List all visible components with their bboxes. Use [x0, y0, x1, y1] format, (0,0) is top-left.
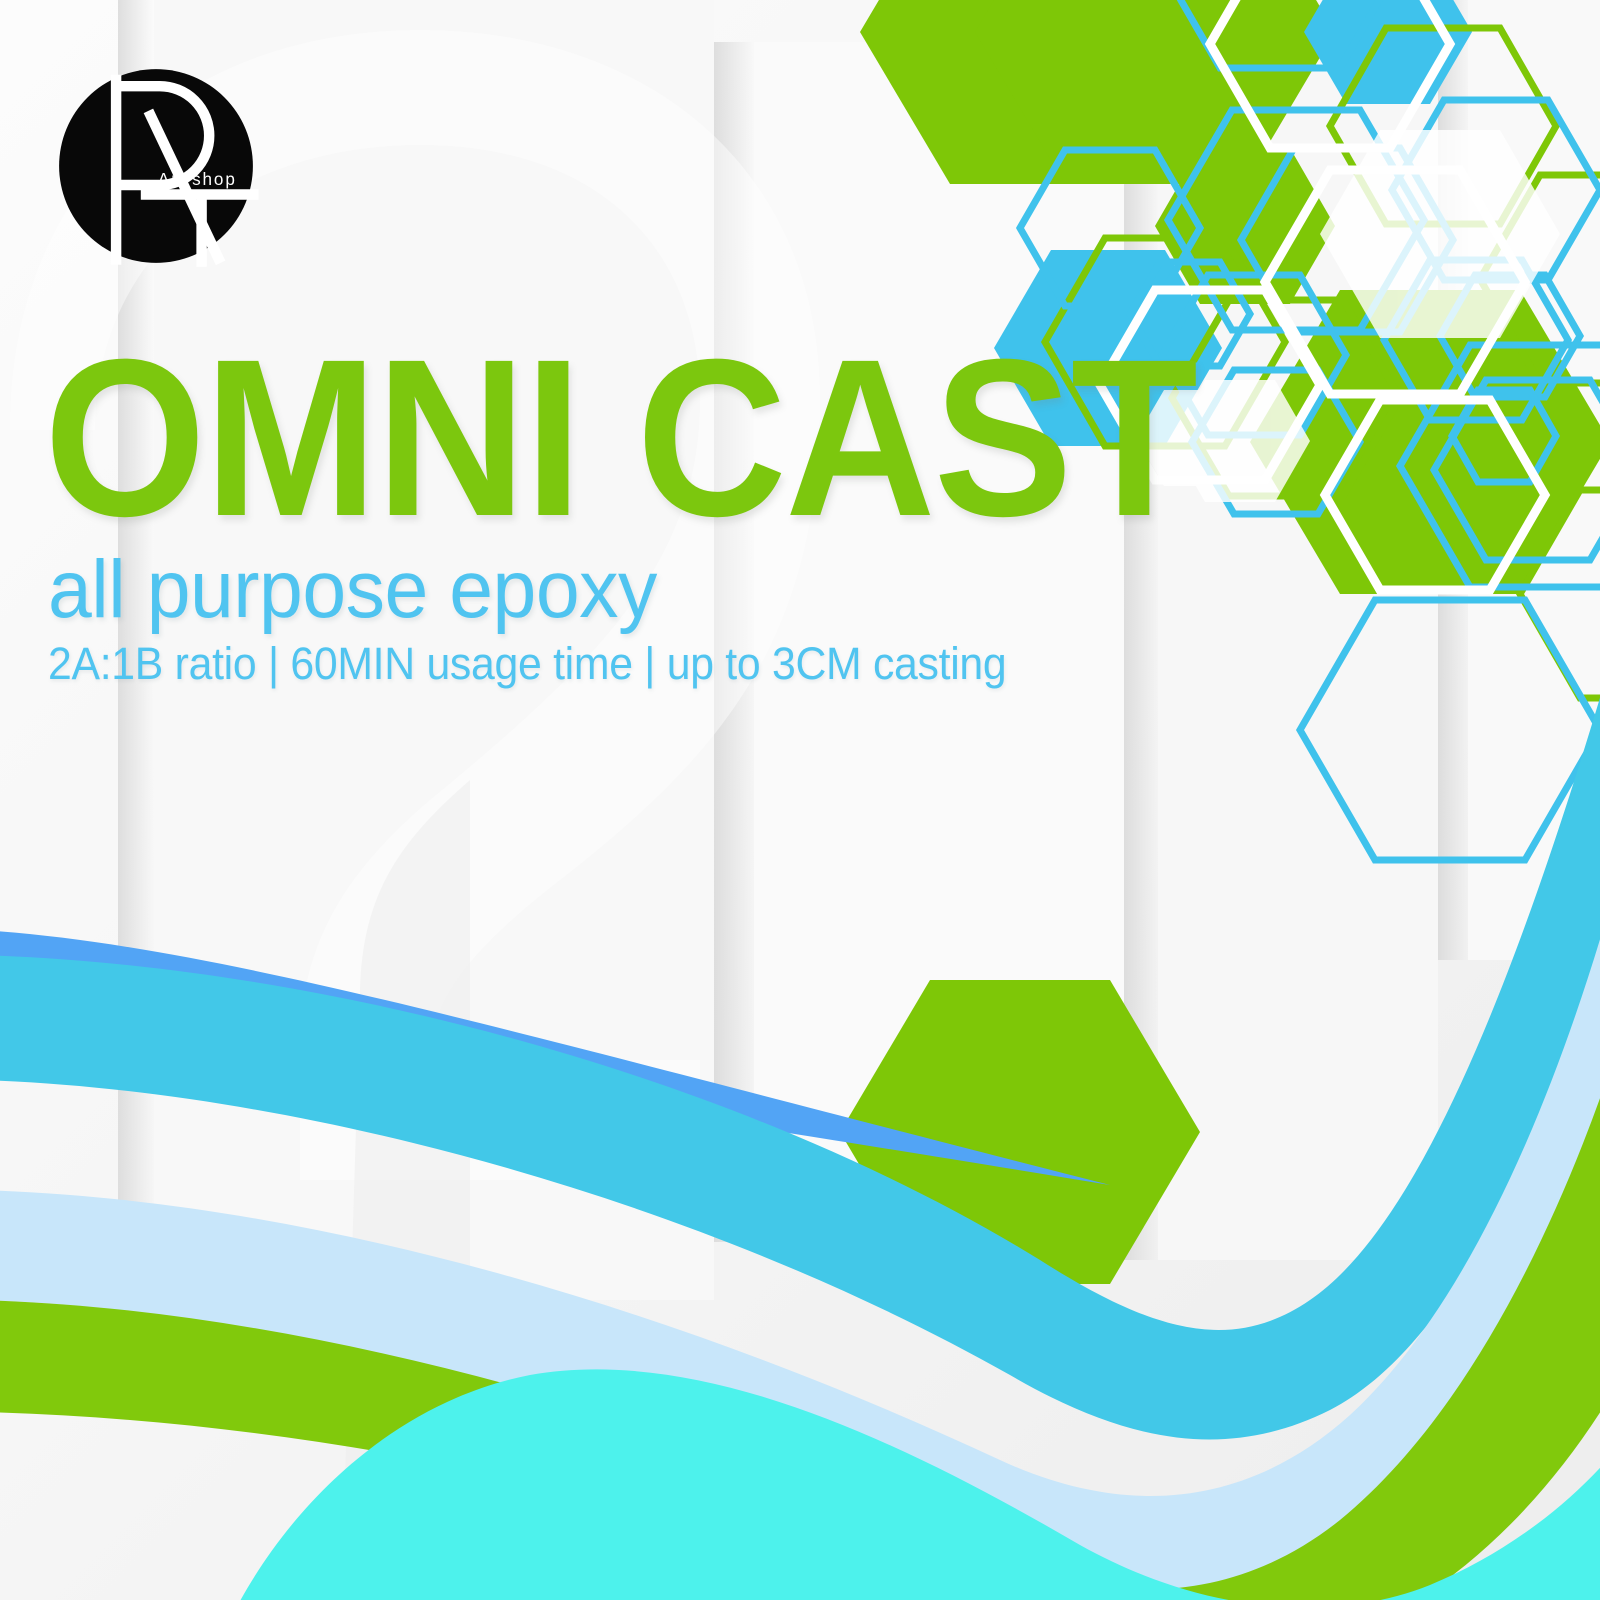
poster-canvas: Art shop OMNI CAST all purpose epoxy 2A:… [0, 0, 1600, 1600]
page-title: OMNI CAST [44, 340, 1196, 537]
logo-circle [59, 69, 253, 263]
product-subtitle: all purpose epoxy [48, 549, 1233, 631]
brand-logo[interactable]: Art shop [42, 52, 270, 280]
product-specs: 2A:1B ratio | 60MIN usage time | up to 3… [48, 641, 1221, 686]
logo-wordmark: Art shop [158, 170, 237, 189]
rt-monogram-circle-logo: Art shop [42, 52, 270, 280]
hero-text-block: OMNI CAST all purpose epoxy 2A:1B ratio … [44, 340, 1283, 686]
